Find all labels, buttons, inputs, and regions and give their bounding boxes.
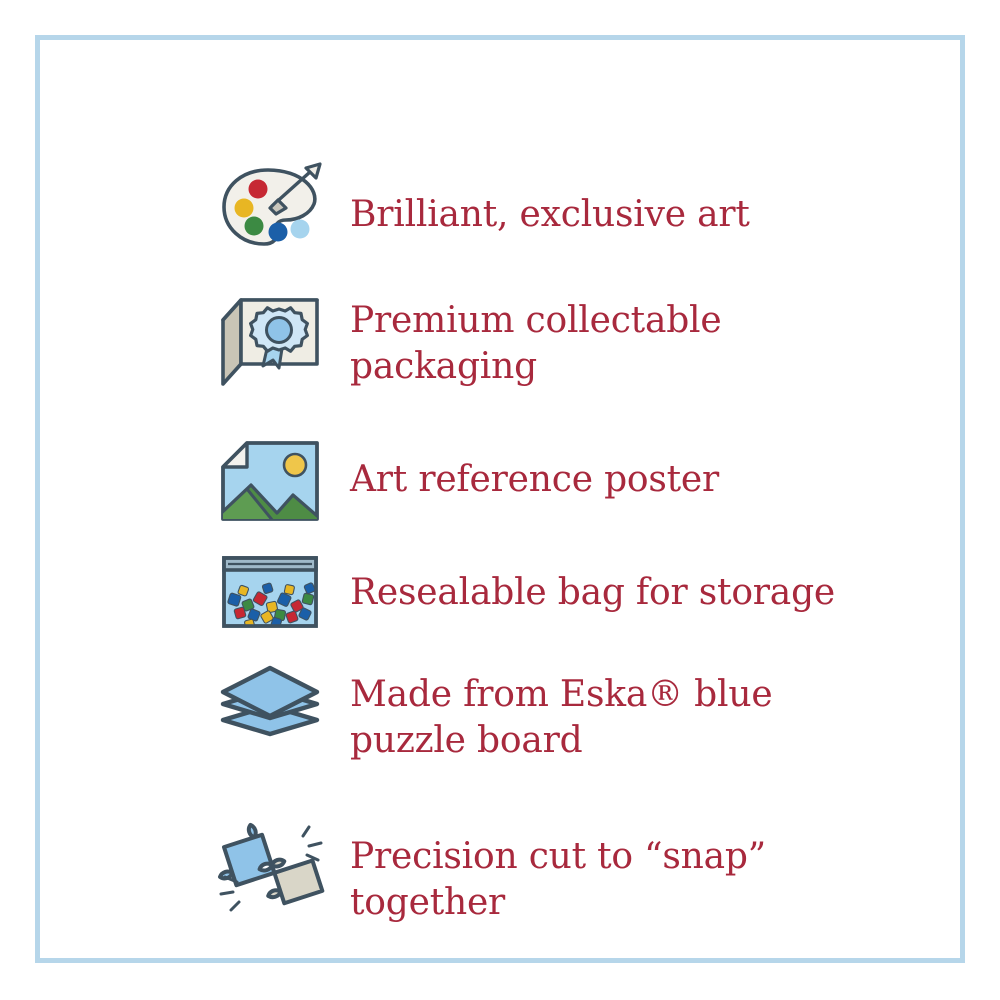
feature-list: Brilliant, exclusive art (200, 132, 940, 962)
feature-label: Resealable bag for storage (340, 550, 940, 616)
poster-image-icon (200, 437, 340, 525)
feature-row: Precision cut to “snap” together (200, 814, 940, 926)
card-border-frame: Brilliant, exclusive art (35, 35, 965, 963)
resealable-bag-icon (200, 550, 340, 634)
layered-board-icon (200, 662, 340, 740)
feature-row: Art reference poster (200, 437, 940, 525)
feature-row: Made from Eska® blue puzzle board (200, 662, 940, 764)
award-box-icon (200, 292, 340, 396)
feature-list-page: Brilliant, exclusive art (0, 0, 1000, 1000)
feature-label: Art reference poster (340, 437, 940, 503)
artist-palette-icon (200, 162, 340, 254)
feature-label: Premium collectable packaging (340, 292, 940, 390)
feature-row: Resealable bag for storage (200, 550, 940, 634)
feature-label: Brilliant, exclusive art (340, 162, 940, 238)
feature-label: Precision cut to “snap” together (340, 814, 940, 926)
puzzle-snap-icon (200, 814, 340, 924)
feature-label: Made from Eska® blue puzzle board (340, 662, 940, 764)
feature-row: Premium collectable packaging (200, 292, 940, 396)
feature-row: Brilliant, exclusive art (200, 162, 940, 254)
